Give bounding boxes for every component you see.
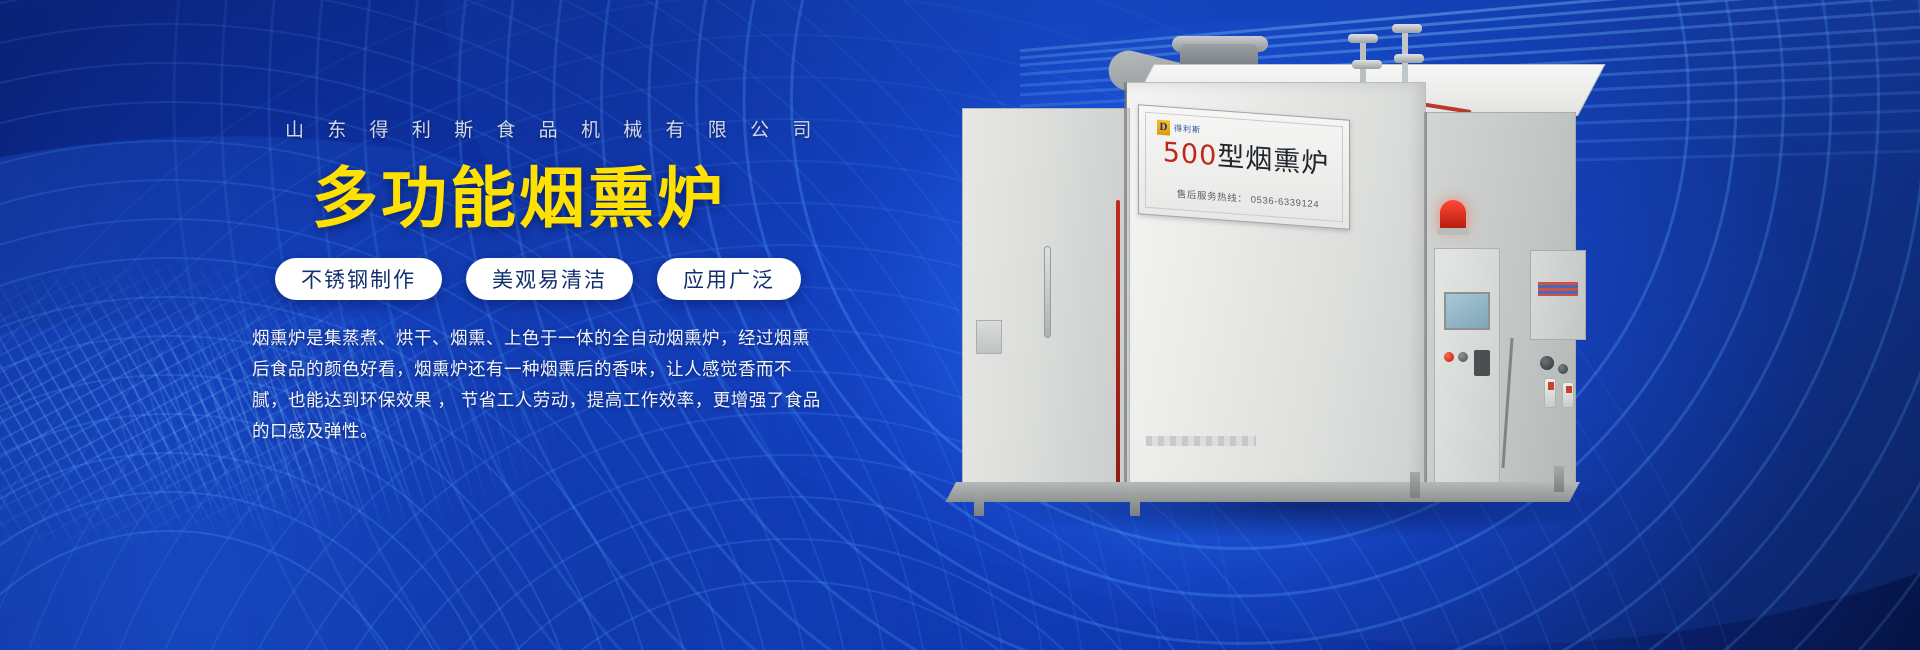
nameplate-model-number: 500 (1163, 137, 1218, 172)
page-title: 多功能烟熏炉 (312, 166, 726, 232)
oven-alarm-beacon (1440, 200, 1466, 230)
product-banner: D 得利斯 500型烟熏炉 售后服务热线： 0536-6339124 山 东 得 (0, 0, 1920, 650)
feature-pill-stainless[interactable]: 不锈钢制作 (275, 258, 442, 300)
valve-handle-3 (1392, 24, 1422, 33)
oven-leg-1 (974, 490, 984, 516)
oven-nameplate: D 得利斯 500型烟熏炉 售后服务热线： 0536-6339124 (1138, 104, 1350, 230)
oven-leg-3 (1410, 472, 1420, 498)
oven-door-seam (1124, 82, 1127, 490)
oven-control-button (1458, 352, 1468, 362)
oven-leg-2 (1130, 490, 1140, 516)
oven-gauge-secondary (1558, 364, 1568, 374)
oven-lubricator-1 (1544, 378, 1556, 408)
product-description: 烟熏炉是集蒸煮、烘干、烟熏、上色于一体的全自动烟熏炉，经过烟熏后食品的颜色好看，… (252, 323, 822, 447)
logo-brand-text: 得利斯 (1174, 123, 1201, 136)
oven-control-panel (1434, 248, 1500, 488)
oven-lubricator-2 (1562, 382, 1574, 408)
oven-base-frame (945, 482, 1580, 502)
banner-copy: 山 东 得 利 斯 食 品 机 械 有 限 公 司 多功能烟熏炉 不锈钢制作 美… (0, 0, 860, 650)
brand-logo: D 得利斯 (1157, 120, 1201, 138)
oven-control-screen (1444, 292, 1490, 330)
oven-control-switch (1474, 350, 1490, 376)
feature-pill-list: 不锈钢制作 美观易清洁 应用广泛 (275, 258, 801, 300)
valve-handle-2 (1352, 60, 1382, 69)
oven-door-handle (1044, 246, 1051, 338)
valve-handle-4 (1394, 54, 1424, 63)
smokehouse-oven-photo: D 得利斯 500型烟熏炉 售后服务热线： 0536-6339124 (940, 20, 1590, 530)
oven-vent-grille (1146, 436, 1256, 446)
oven-door-seam-right (1424, 112, 1427, 484)
valve-handle-1 (1348, 34, 1378, 43)
oven-emergency-button (1444, 352, 1454, 362)
oven-door-gasket (1116, 200, 1120, 490)
feature-pill-easy-clean[interactable]: 美观易清洁 (466, 258, 633, 300)
oven-leg-4 (1554, 466, 1564, 492)
oven-beacon-base (1437, 228, 1469, 235)
oven-side-plate (976, 320, 1002, 354)
oven-side-label (1538, 282, 1578, 296)
company-name: 山 东 得 利 斯 食 品 机 械 有 限 公 司 (285, 115, 805, 142)
feature-pill-wide-use[interactable]: 应用广泛 (657, 258, 801, 300)
oven-gauge-primary (1540, 356, 1554, 370)
logo-letter-d: D (1157, 120, 1170, 136)
